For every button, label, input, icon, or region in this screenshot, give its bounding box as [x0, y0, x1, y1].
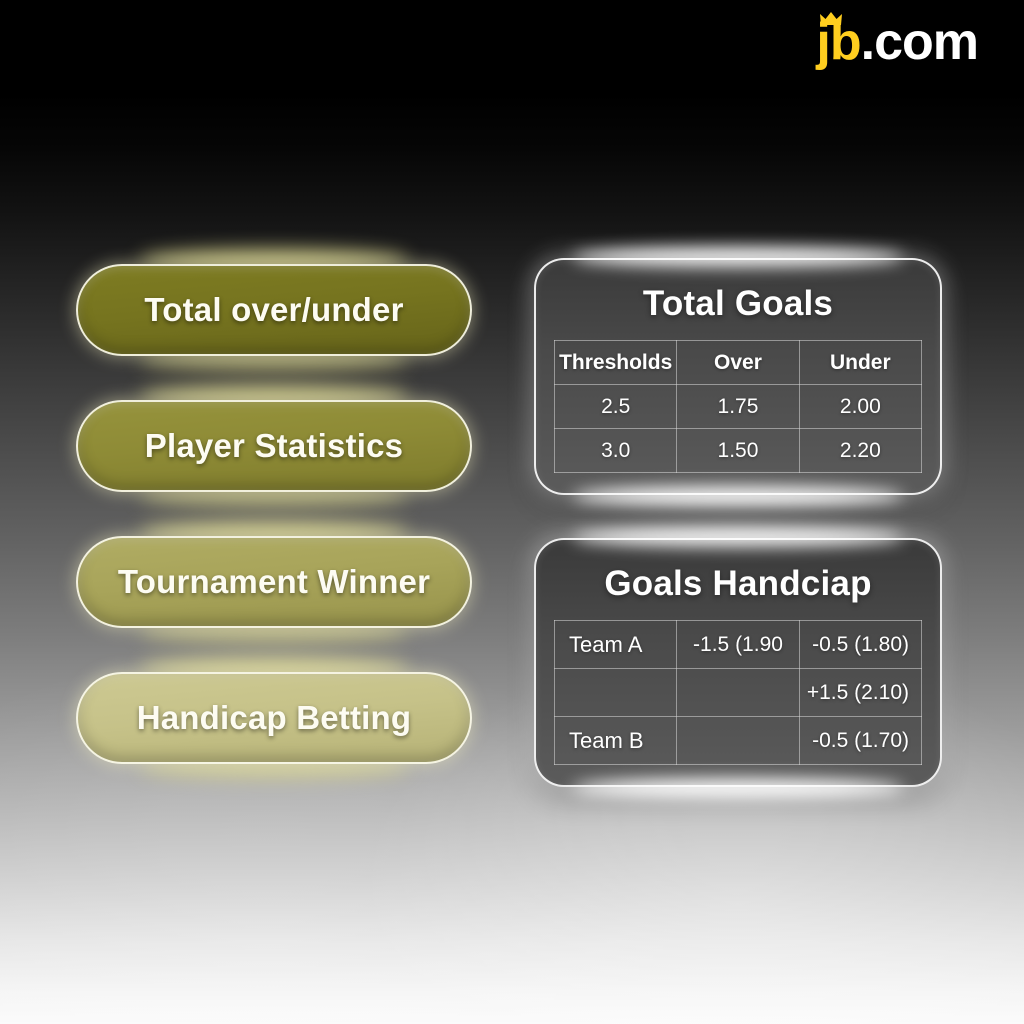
logo-suffix-text: .com: [861, 16, 978, 68]
market-button-wrapper-1: Total over/under: [76, 264, 472, 356]
market-button-wrapper-2: Player Statistics: [76, 400, 472, 492]
total-goals-card: Total Goals Thresholds Over Under 2.5 1.…: [534, 258, 942, 495]
market-button-label: Player Statistics: [145, 427, 403, 465]
market-button-list: Total over/under Player Statistics Tourn…: [76, 264, 472, 764]
cell-handicap-odds: [677, 669, 799, 717]
cell-handicap-odds[interactable]: +1.5 (2.10): [799, 669, 921, 717]
cell-threshold: 3.0: [555, 429, 677, 473]
crown-icon: [819, 11, 843, 27]
market-button-total-over-under[interactable]: Total over/under: [76, 264, 472, 356]
poster-canvas: jb .com Total over/under Player Statisti…: [0, 0, 1024, 1024]
cell-under-odds[interactable]: 2.20: [799, 429, 921, 473]
market-button-label: Handicap Betting: [137, 699, 412, 737]
market-button-player-statistics[interactable]: Player Statistics: [76, 400, 472, 492]
cell-team-name: [555, 669, 677, 717]
cell-handicap-odds[interactable]: -0.5 (1.70): [799, 717, 921, 765]
market-button-wrapper-3: Tournament Winner: [76, 536, 472, 628]
cell-team-name: Team B: [555, 717, 677, 765]
market-button-wrapper-4: Handicap Betting: [76, 672, 472, 764]
table-row: +1.5 (2.10): [555, 669, 922, 717]
table-row: Team A -1.5 (1.90 -0.5 (1.80): [555, 621, 922, 669]
column-header-under: Under: [799, 341, 921, 385]
market-button-label: Tournament Winner: [118, 563, 430, 601]
cell-handicap-odds[interactable]: -0.5 (1.80): [799, 621, 921, 669]
market-button-tournament-winner[interactable]: Tournament Winner: [76, 536, 472, 628]
cell-team-name: Team A: [555, 621, 677, 669]
market-button-label: Total over/under: [144, 291, 403, 329]
goals-handicap-card: Goals Handciap Team A -1.5 (1.90 -0.5 (1…: [534, 538, 942, 787]
table-header-row: Thresholds Over Under: [555, 341, 922, 385]
cell-over-odds[interactable]: 1.75: [677, 385, 799, 429]
cell-handicap-odds: [677, 717, 799, 765]
goals-handicap-table: Team A -1.5 (1.90 -0.5 (1.80) +1.5 (2.10…: [554, 620, 922, 765]
column-header-over: Over: [677, 341, 799, 385]
cell-under-odds[interactable]: 2.00: [799, 385, 921, 429]
brand-logo[interactable]: jb .com: [816, 16, 978, 68]
cell-threshold: 2.5: [555, 385, 677, 429]
table-row: Team B -0.5 (1.70): [555, 717, 922, 765]
card-title: Goals Handciap: [554, 564, 922, 604]
cell-handicap-odds[interactable]: -1.5 (1.90: [677, 621, 799, 669]
card-title: Total Goals: [554, 284, 922, 324]
table-row: 3.0 1.50 2.20: [555, 429, 922, 473]
table-row: 2.5 1.75 2.00: [555, 385, 922, 429]
total-goals-table: Thresholds Over Under 2.5 1.75 2.00 3.0 …: [554, 340, 922, 473]
market-button-handicap-betting[interactable]: Handicap Betting: [76, 672, 472, 764]
column-header-thresholds: Thresholds: [555, 341, 677, 385]
cell-over-odds[interactable]: 1.50: [677, 429, 799, 473]
